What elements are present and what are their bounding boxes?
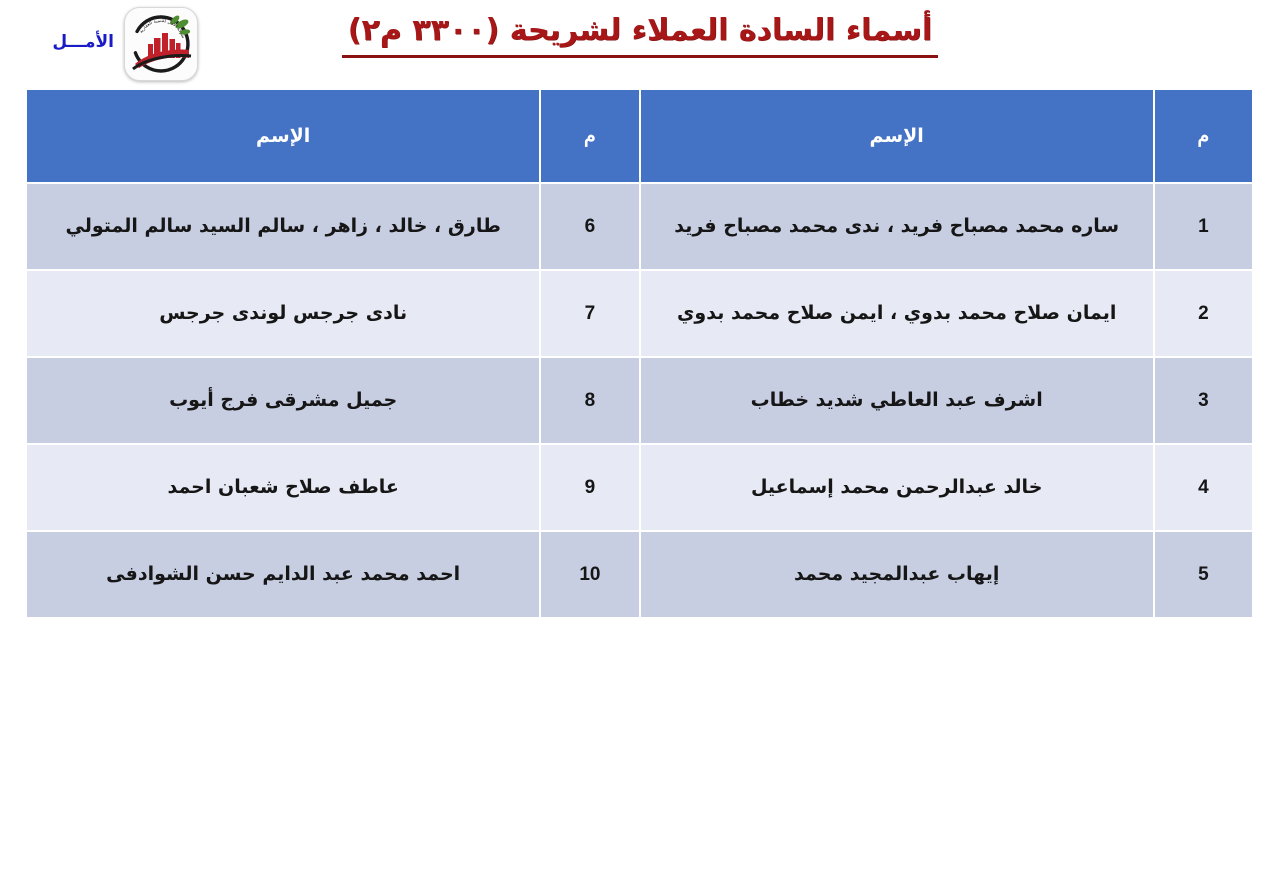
column-header-num-left: م [541, 90, 638, 182]
table-row: 5 إيهاب عبدالمجيد محمد 10 احمد محمد عبد … [27, 532, 1252, 617]
table-row: 3 اشرف عبد العاطي شديد خطاب 8 جميل مشرقى… [27, 358, 1252, 443]
cell-num-right: 3 [1155, 358, 1252, 443]
cell-name-left: جميل مشرقى فرج أيوب [27, 358, 539, 443]
cell-num-right: 4 [1155, 445, 1252, 530]
table-row: 4 خالد عبدالرحمن محمد إسماعيل 9 عاطف صلا… [27, 445, 1252, 530]
clients-table: م الإسم م الإسم 1 ساره محمد مصباح فريد ،… [25, 88, 1254, 619]
cell-name-right: خالد عبدالرحمن محمد إسماعيل [641, 445, 1153, 530]
page-title-text: أسماء السادة العملاء لشريحة (٣٣٠٠ م٢) [342, 14, 938, 58]
brand-name-label: الأمـــل [52, 34, 114, 55]
table-body: 1 ساره محمد مصباح فريد ، ندى محمد مصباح … [27, 184, 1252, 617]
cell-name-left: احمد محمد عبد الدايم حسن الشوادفى [27, 532, 539, 617]
al-amal-logo-icon: شركة الأمل للتنمية العقارية [124, 7, 198, 81]
cell-name-right: ساره محمد مصباح فريد ، ندى محمد مصباح فر… [641, 184, 1153, 269]
cell-name-left: طارق ، خالد ، زاهر ، سالم السيد سالم الم… [27, 184, 539, 269]
cell-num-left: 7 [541, 271, 638, 356]
column-header-name-left: الإسم [27, 90, 539, 182]
column-header-num-right: م [1155, 90, 1252, 182]
brand-block: شركة الأمل للتنمية العقارية الأمـــل [20, 7, 198, 81]
cell-name-right: اشرف عبد العاطي شديد خطاب [641, 358, 1153, 443]
cell-num-left: 8 [541, 358, 638, 443]
page-header: شركة الأمل للتنمية العقارية الأمـــل أسم… [0, 0, 1280, 86]
cell-name-right: إيهاب عبدالمجيد محمد [641, 532, 1153, 617]
cell-num-right: 5 [1155, 532, 1252, 617]
cell-num-right: 2 [1155, 271, 1252, 356]
table-header: م الإسم م الإسم [27, 90, 1252, 182]
cell-num-left: 10 [541, 532, 638, 617]
cell-num-right: 1 [1155, 184, 1252, 269]
cell-name-right: ايمان صلاح محمد بدوي ، ايمن صلاح محمد بد… [641, 271, 1153, 356]
cell-num-left: 6 [541, 184, 638, 269]
table-row: 1 ساره محمد مصباح فريد ، ندى محمد مصباح … [27, 184, 1252, 269]
cell-name-left: نادى جرجس لوندى جرجس [27, 271, 539, 356]
cell-name-left: عاطف صلاح شعبان احمد [27, 445, 539, 530]
table-row: 2 ايمان صلاح محمد بدوي ، ايمن صلاح محمد … [27, 271, 1252, 356]
table-header-row: م الإسم م الإسم [27, 90, 1252, 182]
cell-num-left: 9 [541, 445, 638, 530]
column-header-name-right: الإسم [641, 90, 1153, 182]
